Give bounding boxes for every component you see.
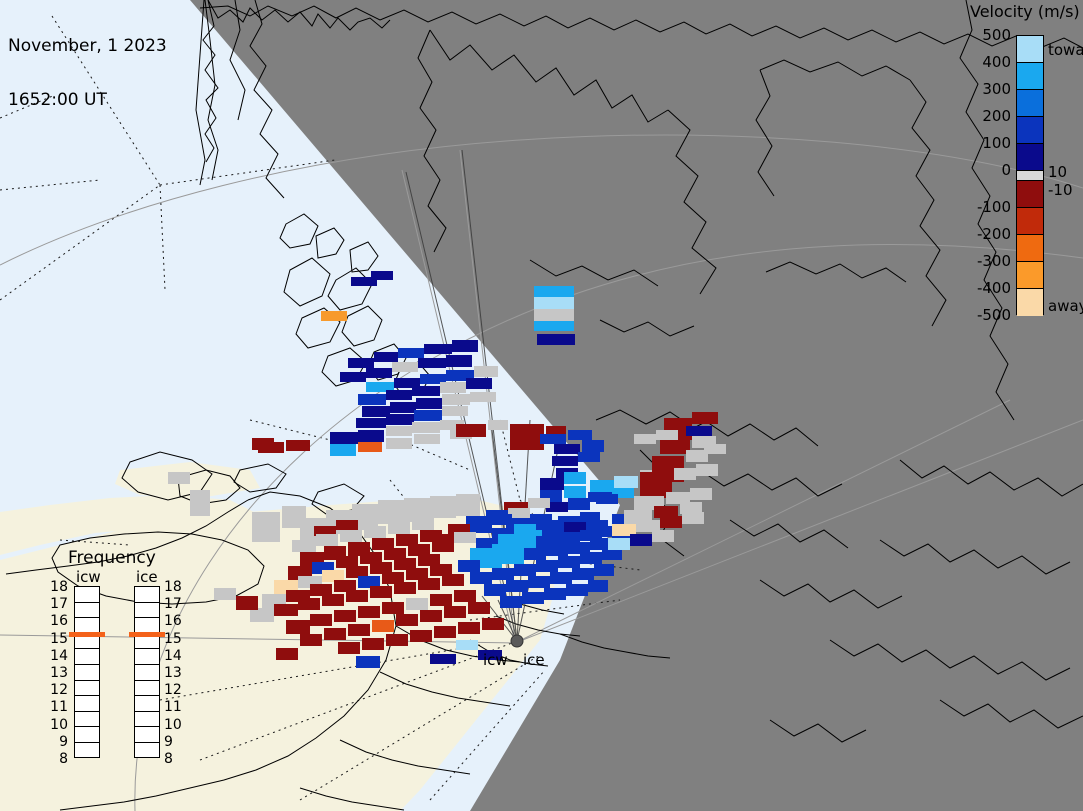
velocity-cell bbox=[524, 548, 546, 560]
velocity-cell bbox=[470, 572, 492, 584]
velocity-cell bbox=[596, 494, 618, 504]
frequency-scale-label: 15 bbox=[46, 631, 68, 647]
frequency-bar-ice bbox=[134, 586, 160, 758]
frequency-scale-label: 16 bbox=[164, 613, 186, 629]
velocity-cell bbox=[452, 340, 478, 352]
colorbar-segment bbox=[1017, 262, 1043, 289]
velocity-cell bbox=[470, 522, 492, 533]
site-label-icw: icw bbox=[483, 651, 508, 669]
velocity-cell bbox=[356, 656, 380, 668]
velocity-cell bbox=[500, 596, 522, 608]
velocity-colorbar-panel: Velocity (m/s) 5004003002001000-100-200-… bbox=[960, 0, 1083, 330]
colorbar-swatches bbox=[1016, 35, 1044, 315]
velocity-cell bbox=[414, 410, 442, 421]
velocity-cell bbox=[652, 530, 674, 542]
colorbar-tick: 300 bbox=[982, 80, 1011, 98]
velocity-cell bbox=[250, 608, 274, 622]
velocity-cell bbox=[656, 430, 678, 440]
velocity-cell bbox=[568, 430, 592, 440]
frequency-column-head-ice: ice bbox=[136, 568, 158, 586]
frequency-tick-segment bbox=[75, 712, 99, 728]
velocity-cell bbox=[540, 478, 564, 490]
velocity-cell bbox=[630, 534, 652, 546]
frequency-legend-title: Frequency bbox=[68, 548, 156, 568]
frequency-scale-label: 10 bbox=[164, 717, 186, 733]
frequency-tick-segment bbox=[135, 712, 159, 728]
velocity-cell bbox=[480, 556, 502, 568]
title-time: 1652:00 UT bbox=[8, 91, 167, 109]
velocity-cell bbox=[442, 574, 464, 586]
velocity-cell bbox=[446, 355, 472, 367]
velocity-cell bbox=[386, 390, 412, 400]
velocity-cell bbox=[470, 392, 496, 402]
velocity-cell bbox=[690, 488, 712, 500]
site-label-ice: ice bbox=[523, 651, 545, 669]
frequency-scale-label: 14 bbox=[164, 648, 186, 664]
velocity-cell bbox=[434, 626, 456, 638]
velocity-cell bbox=[674, 468, 696, 480]
velocity-cell bbox=[540, 434, 566, 444]
velocity-cell bbox=[356, 418, 386, 428]
velocity-cell bbox=[406, 598, 428, 610]
frequency-scale-label: 14 bbox=[46, 648, 68, 664]
velocity-cell bbox=[418, 358, 446, 368]
velocity-cell bbox=[456, 640, 478, 650]
velocity-cell bbox=[692, 412, 718, 424]
velocity-cell bbox=[330, 432, 358, 444]
velocity-cell bbox=[372, 620, 394, 632]
velocity-cell bbox=[276, 648, 298, 660]
colorbar-segment bbox=[1017, 171, 1043, 181]
velocity-cell bbox=[546, 544, 568, 556]
colorbar-away-label: away bbox=[1048, 297, 1083, 315]
frequency-scale-label: 17 bbox=[46, 596, 68, 612]
frequency-tick-segment bbox=[75, 649, 99, 665]
frequency-scale-label: 13 bbox=[46, 665, 68, 681]
frequency-tick-segment bbox=[75, 665, 99, 681]
velocity-cell bbox=[482, 618, 504, 630]
velocity-cell bbox=[374, 352, 398, 362]
frequency-tick-segment bbox=[75, 587, 99, 603]
frequency-tick-segment bbox=[135, 665, 159, 681]
velocity-cell bbox=[412, 386, 440, 396]
velocity-cell bbox=[386, 634, 408, 646]
velocity-cell bbox=[430, 496, 456, 518]
velocity-cell bbox=[528, 576, 550, 588]
frequency-scale-label: 11 bbox=[46, 699, 68, 715]
frequency-bar-icw bbox=[74, 586, 100, 758]
velocity-cell bbox=[430, 594, 452, 606]
velocity-cell bbox=[506, 580, 528, 592]
velocity-cell bbox=[286, 440, 310, 451]
frequency-marker-ice bbox=[129, 632, 165, 637]
velocity-cell bbox=[322, 594, 344, 606]
velocity-cell bbox=[424, 344, 452, 354]
velocity-cell bbox=[558, 556, 580, 568]
velocity-cell bbox=[536, 560, 558, 572]
timestamp-title: November, 1 2023 1652:00 UT bbox=[8, 1, 167, 145]
velocity-cell bbox=[430, 654, 456, 664]
colorbar-tick: -300 bbox=[977, 252, 1011, 270]
velocity-cell bbox=[348, 358, 374, 368]
colorbar-segment bbox=[1017, 117, 1043, 144]
frequency-tick-segment bbox=[135, 649, 159, 665]
velocity-cell bbox=[418, 578, 440, 590]
velocity-cell bbox=[386, 438, 412, 449]
velocity-cell bbox=[371, 271, 393, 280]
frequency-tick-segment bbox=[135, 681, 159, 697]
colorbar-tick: 200 bbox=[982, 107, 1011, 125]
frequency-tick-segment bbox=[75, 681, 99, 697]
frequency-tick-segment bbox=[75, 696, 99, 712]
colorbar-toward-label: toward bbox=[1048, 41, 1083, 59]
velocity-cell bbox=[236, 596, 258, 610]
frequency-scale-label: 11 bbox=[164, 699, 186, 715]
velocity-cell bbox=[252, 512, 280, 542]
velocity-cell bbox=[370, 586, 392, 598]
velocity-cell bbox=[340, 530, 362, 542]
velocity-cell bbox=[432, 540, 454, 552]
velocity-cell bbox=[660, 440, 690, 454]
colorbar-segment bbox=[1017, 63, 1043, 90]
frequency-tick-segment bbox=[135, 696, 159, 712]
velocity-cell bbox=[346, 590, 368, 602]
velocity-cell bbox=[410, 630, 432, 642]
velocity-cell bbox=[396, 614, 418, 626]
velocity-cell bbox=[338, 642, 360, 654]
velocity-cell bbox=[444, 606, 466, 618]
colorbar-segment bbox=[1017, 144, 1043, 171]
velocity-cell bbox=[358, 430, 384, 442]
velocity-cell bbox=[608, 538, 630, 550]
frequency-scale-label: 18 bbox=[164, 579, 186, 595]
velocity-cell bbox=[300, 634, 322, 646]
velocity-cell bbox=[492, 568, 514, 580]
colorbar-tick: 500 bbox=[982, 26, 1011, 44]
frequency-scale-label: 10 bbox=[46, 717, 68, 733]
velocity-cell bbox=[502, 552, 524, 564]
velocity-cell bbox=[696, 464, 718, 476]
velocity-cell bbox=[336, 520, 358, 530]
velocity-cell bbox=[442, 394, 470, 405]
velocity-cell bbox=[458, 622, 480, 634]
velocity-cell bbox=[466, 378, 492, 389]
velocity-cell bbox=[321, 311, 347, 321]
velocity-cell bbox=[388, 522, 410, 534]
velocity-cell bbox=[704, 444, 726, 454]
velocity-cell bbox=[310, 614, 332, 626]
frequency-scale-label: 12 bbox=[164, 682, 186, 698]
velocity-cell bbox=[324, 628, 346, 640]
velocity-cell bbox=[458, 560, 480, 572]
frequency-legend: Frequency icw ice 18171615141312111098 1… bbox=[58, 548, 188, 773]
colorbar-tick: -100 bbox=[977, 198, 1011, 216]
velocity-cell bbox=[440, 382, 466, 393]
velocity-cell bbox=[214, 588, 236, 600]
colorbar-tick: 0 bbox=[1001, 161, 1011, 179]
velocity-cell bbox=[488, 420, 508, 430]
frequency-tick-segment bbox=[135, 587, 159, 603]
velocity-cell bbox=[420, 610, 442, 622]
velocity-cell bbox=[474, 366, 498, 377]
velocity-cell bbox=[298, 598, 320, 610]
velocity-cell bbox=[190, 490, 210, 516]
velocity-cell bbox=[286, 620, 310, 634]
velocity-cell bbox=[168, 472, 190, 484]
frequency-scale-label: 16 bbox=[46, 613, 68, 629]
velocity-cell bbox=[456, 494, 480, 516]
velocity-cell bbox=[358, 394, 386, 405]
velocity-cell bbox=[292, 540, 316, 552]
velocity-cell bbox=[568, 498, 590, 510]
velocity-cell bbox=[252, 438, 274, 450]
velocity-cell bbox=[534, 297, 574, 309]
velocity-cell bbox=[528, 498, 550, 508]
colorbar-tick: -500 bbox=[977, 306, 1011, 324]
frequency-column-head-icw: icw bbox=[76, 568, 101, 586]
frequency-tick-segment bbox=[75, 727, 99, 743]
velocity-cell bbox=[552, 456, 578, 466]
velocity-cell bbox=[454, 590, 476, 602]
velocity-cell bbox=[468, 602, 490, 614]
velocity-cell bbox=[550, 572, 572, 584]
velocity-cell bbox=[454, 532, 476, 543]
velocity-cell bbox=[660, 516, 682, 528]
velocity-cell bbox=[682, 512, 704, 524]
velocity-cell bbox=[414, 434, 440, 444]
velocity-cell bbox=[564, 472, 586, 484]
velocity-cell bbox=[274, 604, 298, 616]
colorbar-positive-threshold: 10 bbox=[1048, 163, 1067, 181]
frequency-scale-label: 12 bbox=[46, 682, 68, 698]
velocity-cell bbox=[514, 564, 536, 576]
frequency-scale-label: 13 bbox=[164, 665, 186, 681]
frequency-scale-label: 15 bbox=[164, 631, 186, 647]
velocity-cell bbox=[484, 584, 506, 596]
frequency-tick-segment bbox=[135, 727, 159, 743]
frequency-scale-label: 8 bbox=[46, 751, 68, 767]
velocity-cell bbox=[378, 500, 404, 524]
velocity-cell bbox=[566, 584, 588, 596]
frequency-scale-label: 18 bbox=[46, 579, 68, 595]
title-date: November, 1 2023 bbox=[8, 37, 167, 55]
velocity-cell bbox=[442, 406, 468, 416]
colorbar-segment bbox=[1017, 235, 1043, 262]
colorbar-tick: 400 bbox=[982, 53, 1011, 71]
colorbar-tick: -200 bbox=[977, 225, 1011, 243]
velocity-cell bbox=[456, 424, 486, 437]
velocity-cell bbox=[554, 444, 580, 454]
velocity-cell bbox=[398, 348, 424, 358]
frequency-scale-label: 9 bbox=[46, 734, 68, 750]
velocity-cell bbox=[334, 610, 356, 622]
velocity-cell bbox=[386, 426, 412, 436]
frequency-marker-icw bbox=[69, 632, 105, 637]
velocity-cell bbox=[366, 368, 392, 378]
colorbar-tick: 100 bbox=[982, 134, 1011, 152]
velocity-cell bbox=[522, 592, 544, 604]
velocity-cell bbox=[364, 526, 386, 538]
colorbar-tick: -400 bbox=[977, 279, 1011, 297]
velocity-cell bbox=[362, 638, 384, 650]
velocity-cell bbox=[348, 624, 370, 636]
velocity-cell bbox=[590, 480, 614, 492]
velocity-cell bbox=[594, 564, 614, 576]
colorbar-segment bbox=[1017, 90, 1043, 117]
radar-velocity-map: November, 1 2023 1652:00 UT Velocity (m/… bbox=[0, 0, 1083, 811]
velocity-cell bbox=[390, 402, 416, 413]
velocity-cell bbox=[340, 372, 366, 382]
velocity-cell bbox=[572, 568, 594, 580]
colorbar-segment bbox=[1017, 208, 1043, 235]
velocity-cell bbox=[330, 444, 356, 456]
velocity-cell bbox=[316, 534, 338, 546]
velocity-cell bbox=[534, 321, 574, 331]
velocity-cell bbox=[358, 442, 382, 452]
frequency-scale-label: 9 bbox=[164, 734, 186, 750]
velocity-cell bbox=[580, 552, 602, 564]
frequency-tick-segment bbox=[135, 743, 159, 759]
velocity-cell bbox=[614, 476, 638, 488]
velocity-cell bbox=[582, 440, 604, 452]
velocity-cell bbox=[686, 426, 712, 436]
velocity-cell bbox=[412, 518, 434, 530]
frequency-tick-segment bbox=[135, 603, 159, 619]
frequency-tick-segment bbox=[75, 743, 99, 759]
velocity-cell bbox=[386, 414, 414, 425]
velocity-cell bbox=[394, 582, 416, 594]
frequency-scale-label: 8 bbox=[164, 751, 186, 767]
velocity-cell bbox=[412, 422, 440, 433]
velocity-cell bbox=[362, 406, 390, 417]
colorbar-title: Velocity (m/s) bbox=[970, 2, 1080, 21]
velocity-cell bbox=[534, 309, 574, 321]
velocity-cell bbox=[564, 486, 586, 498]
velocity-cell bbox=[510, 424, 544, 450]
velocity-cell bbox=[392, 362, 418, 372]
velocity-cell bbox=[578, 452, 600, 462]
velocity-cell bbox=[544, 588, 566, 600]
frequency-tick-segment bbox=[75, 603, 99, 619]
velocity-cell bbox=[634, 434, 656, 444]
velocity-cell bbox=[382, 602, 404, 614]
colorbar-segment bbox=[1017, 289, 1043, 316]
colorbar-negative-threshold: -10 bbox=[1048, 181, 1073, 199]
colorbar-segment bbox=[1017, 36, 1043, 63]
velocity-cell bbox=[416, 398, 442, 409]
velocity-cell bbox=[588, 580, 608, 592]
velocity-cell bbox=[358, 606, 380, 618]
velocity-cell bbox=[534, 286, 574, 297]
velocity-cell bbox=[537, 334, 575, 345]
frequency-scale-label: 17 bbox=[164, 596, 186, 612]
colorbar-segment bbox=[1017, 181, 1043, 208]
